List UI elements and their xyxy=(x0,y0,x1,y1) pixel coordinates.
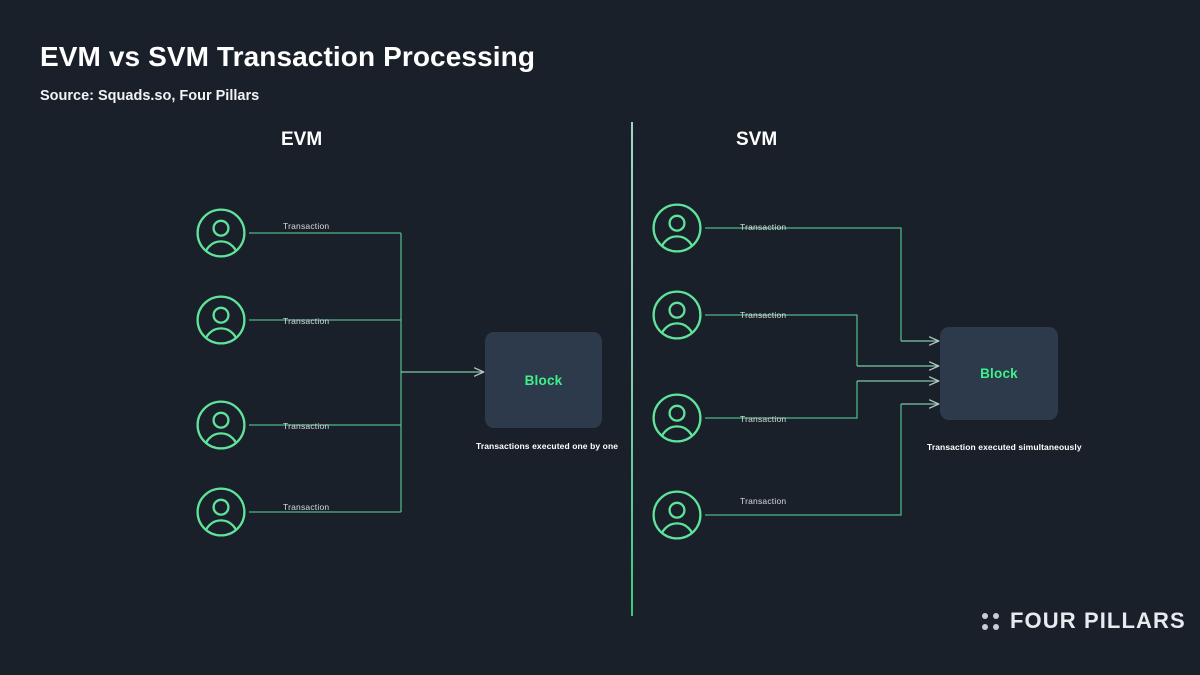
user-avatar xyxy=(195,294,247,346)
transaction-label: Transaction xyxy=(740,310,786,320)
column-heading-svm: SVM xyxy=(736,129,777,151)
transaction-label: Transaction xyxy=(283,221,329,231)
four-pillars-logo: FOUR PILLARS xyxy=(982,608,1186,634)
block-caption-evm: Transactions executed one by one xyxy=(476,441,618,451)
transaction-label: Transaction xyxy=(740,222,786,232)
column-divider xyxy=(631,122,633,616)
block-node-svm: Block xyxy=(940,327,1058,420)
user-avatar xyxy=(651,202,703,254)
slide-canvas: EVM vs SVM Transaction Processing Source… xyxy=(0,0,1200,675)
source-attribution: Source: Squads.so, Four Pillars xyxy=(40,88,259,104)
user-avatar xyxy=(195,399,247,451)
user-avatar xyxy=(651,392,703,444)
user-avatar xyxy=(195,207,247,259)
block-label: Block xyxy=(525,373,563,388)
column-heading-evm: EVM xyxy=(281,129,322,151)
transaction-label: Transaction xyxy=(740,414,786,424)
four-dots-icon xyxy=(982,613,999,630)
logo-wordmark: FOUR PILLARS xyxy=(1010,608,1186,634)
page-title: EVM vs SVM Transaction Processing xyxy=(40,41,535,73)
transaction-label: Transaction xyxy=(283,421,329,431)
transaction-label: Transaction xyxy=(283,316,329,326)
transaction-label: Transaction xyxy=(283,502,329,512)
user-avatar xyxy=(651,289,703,341)
user-avatar xyxy=(651,489,703,541)
block-node-evm: Block xyxy=(485,332,602,428)
transaction-label: Transaction xyxy=(740,496,786,506)
user-avatar xyxy=(195,486,247,538)
block-caption-svm: Transaction executed simultaneously xyxy=(927,442,1082,452)
block-label: Block xyxy=(980,366,1018,381)
